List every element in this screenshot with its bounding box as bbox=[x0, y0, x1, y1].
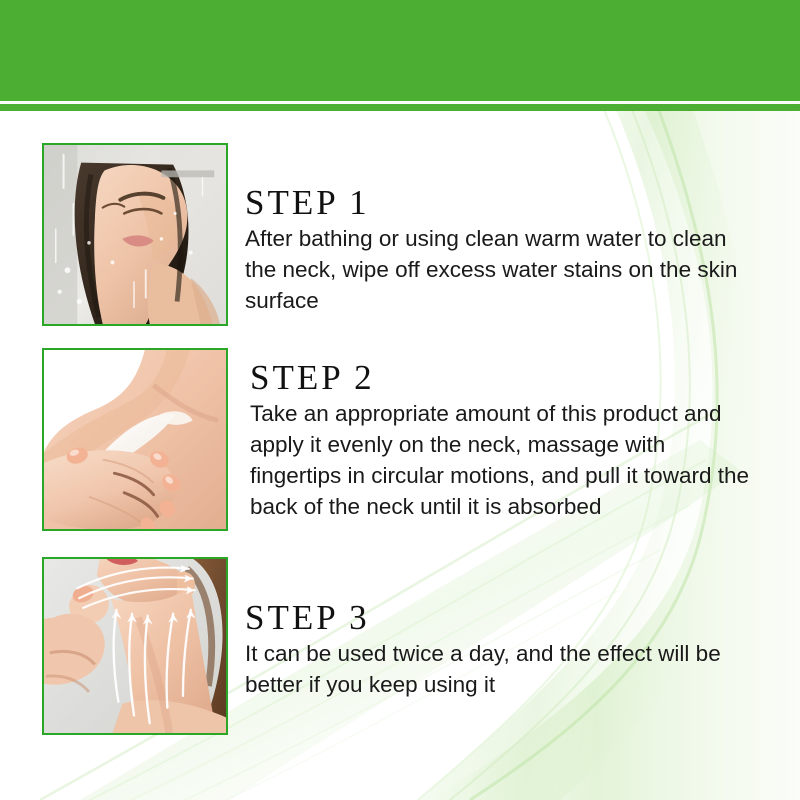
instructions-poster: INSTRUCTIONS NECK CREAM bbox=[0, 0, 800, 800]
step-3-text-block: STEP 3 It can be used twice a day, and t… bbox=[245, 598, 757, 700]
shower-photo-illustration bbox=[44, 145, 226, 324]
neck-massage-arrows-photo-illustration bbox=[44, 559, 226, 733]
step-3-body: It can be used twice a day, and the effe… bbox=[245, 638, 757, 700]
step-1-image bbox=[42, 143, 228, 326]
step-2-body: Take an appropriate amount of this produ… bbox=[250, 398, 762, 522]
step-1-body: After bathing or using clean warm water … bbox=[245, 223, 757, 316]
step-2-image bbox=[42, 348, 228, 531]
step-3-image bbox=[42, 557, 228, 735]
cream-application-photo-illustration bbox=[44, 350, 226, 529]
step-2-text-block: STEP 2 Take an appropriate amount of thi… bbox=[250, 358, 762, 522]
step-3-heading: STEP 3 bbox=[245, 598, 757, 638]
step-2-heading: STEP 2 bbox=[250, 358, 762, 398]
step-1-text-block: STEP 1 After bathing or using clean warm… bbox=[245, 183, 757, 316]
header-banner bbox=[0, 0, 800, 101]
header-accent-strip bbox=[0, 104, 800, 111]
step-1-heading: STEP 1 bbox=[245, 183, 757, 223]
